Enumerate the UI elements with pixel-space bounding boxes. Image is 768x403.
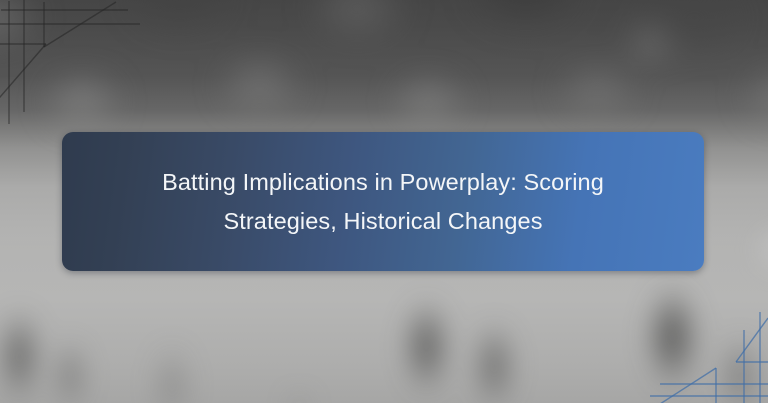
page-title: Batting Implications in Powerplay: Scori… [123, 163, 643, 239]
hero-banner: Batting Implications in Powerplay: Scori… [62, 132, 704, 271]
hero-page: Batting Implications in Powerplay: Scori… [0, 0, 768, 403]
